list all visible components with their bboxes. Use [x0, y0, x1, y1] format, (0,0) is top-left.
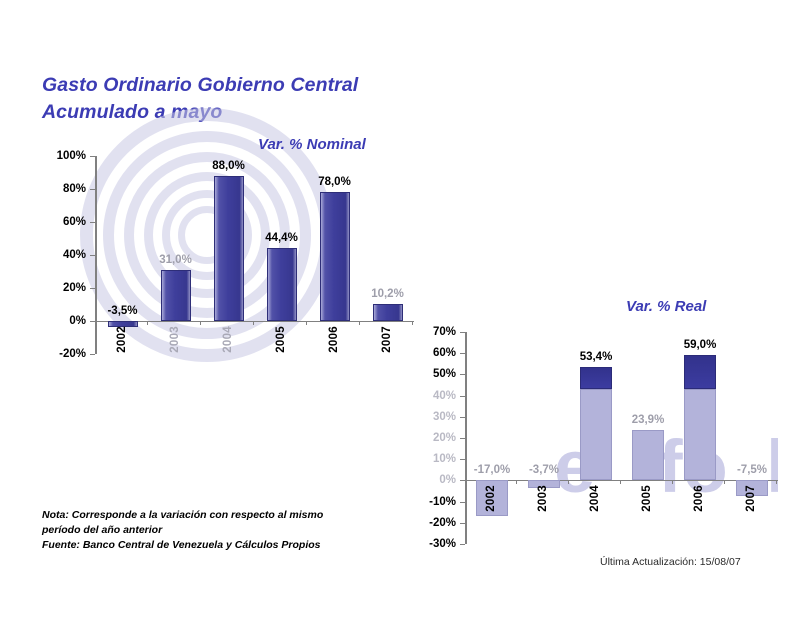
bar-value-2003: -3,7%: [529, 464, 559, 476]
bar-2004[interactable]: [214, 176, 244, 321]
y-axis-tick: [90, 354, 95, 355]
bar-2007[interactable]: [373, 304, 403, 321]
x-axis-category-2003: 2003: [537, 485, 549, 512]
bar-2006-lower[interactable]: [684, 389, 716, 480]
y-axis-tick: [90, 321, 95, 322]
chart-var-real: Var. % Real efole 70%60%50%40%30%20%10%0…: [404, 326, 794, 556]
x-axis-category-2002: 2002: [485, 485, 497, 512]
bar-value-2002: -17,0%: [474, 464, 510, 476]
bar-2006[interactable]: [320, 192, 350, 321]
page-title-line2: Acumulado a mayo: [42, 99, 522, 126]
y-axis-line: [465, 332, 467, 544]
bar-value-2007: -7,5%: [737, 464, 767, 476]
bar-2005[interactable]: [267, 248, 297, 321]
x-axis-tick: [568, 480, 569, 484]
y-axis-label: 60%: [404, 347, 456, 359]
y-axis-label: 40%: [404, 390, 456, 402]
y-axis-label: 0%: [404, 474, 456, 486]
y-axis-tick: [90, 222, 95, 223]
bar-value-2004: 88,0%: [212, 160, 245, 172]
x-axis-category-2006: 2006: [693, 485, 705, 512]
y-axis-label: -30%: [404, 538, 456, 550]
y-axis-label: 20%: [36, 282, 86, 294]
y-axis-label: 50%: [404, 368, 456, 380]
footnote-line-1: Nota: Corresponde a la variación con res…: [42, 508, 392, 523]
y-axis-label: -20%: [404, 517, 456, 529]
x-axis-category-2004: 2004: [589, 485, 601, 512]
x-axis-category-2007: 2007: [745, 485, 757, 512]
x-axis-tick: [306, 321, 307, 325]
y-axis-tick: [460, 480, 465, 481]
last-updated-label: Última Actualización: 15/08/07: [600, 556, 741, 568]
x-axis-tick: [253, 321, 254, 325]
x-axis-tick: [724, 480, 725, 484]
y-axis-tick: [90, 255, 95, 256]
x-axis-category-2002: 2002: [116, 326, 128, 353]
x-axis-tick: [516, 480, 517, 484]
chart-real-plot-area: efole: [466, 332, 778, 544]
x-axis-tick: [412, 321, 413, 325]
y-axis-tick: [460, 374, 465, 375]
y-axis-line: [95, 156, 97, 354]
chart-real-title: Var. % Real: [626, 298, 706, 315]
y-axis-tick: [460, 417, 465, 418]
x-axis-tick: [672, 480, 673, 484]
x-axis-category-2004: 2004: [222, 326, 234, 353]
y-axis-label: 10%: [404, 453, 456, 465]
x-axis-tick: [359, 321, 360, 325]
y-axis-label: 80%: [36, 183, 86, 195]
bar-value-2003: 31,0%: [159, 254, 192, 266]
bar-2003[interactable]: [161, 270, 191, 321]
x-axis-tick: [147, 321, 148, 325]
bar-2004[interactable]: [580, 367, 612, 389]
y-axis-tick: [460, 502, 465, 503]
zero-baseline: [466, 480, 778, 481]
y-axis-label: 20%: [404, 432, 456, 444]
y-axis-tick: [460, 544, 465, 545]
bar-value-2006: 59,0%: [684, 339, 717, 351]
y-axis-label: 60%: [36, 216, 86, 228]
y-axis-tick: [460, 459, 465, 460]
y-axis-tick: [90, 288, 95, 289]
chart-nominal-title: Var. % Nominal: [258, 136, 366, 153]
y-axis-label: -10%: [404, 496, 456, 508]
faded-overlay: [466, 389, 778, 544]
y-axis-label: -20%: [36, 348, 86, 360]
chart-nominal-plot-area: [96, 156, 414, 354]
x-axis-category-2005: 2005: [641, 485, 653, 512]
x-axis-category-2006: 2006: [328, 326, 340, 353]
y-axis-tick: [460, 396, 465, 397]
bar-value-2007: 10,2%: [371, 288, 404, 300]
bar-2004-lower[interactable]: [580, 389, 612, 480]
bar-2005[interactable]: [632, 430, 664, 481]
y-axis-label: 70%: [404, 326, 456, 338]
y-axis-tick: [460, 332, 465, 333]
bar-value-2006: 78,0%: [318, 176, 351, 188]
bar-value-2004: 53,4%: [580, 351, 613, 363]
y-axis-tick: [460, 523, 465, 524]
y-axis-label: 0%: [36, 315, 86, 327]
x-axis-tick: [200, 321, 201, 325]
y-axis-tick: [90, 156, 95, 157]
bar-2006[interactable]: [684, 355, 716, 389]
y-axis-tick: [460, 353, 465, 354]
letters-watermark-icon: efole: [466, 332, 778, 544]
y-axis-label: 100%: [36, 150, 86, 162]
bar-value-2002: -3,5%: [107, 305, 137, 317]
y-axis-tick: [90, 189, 95, 190]
y-axis-label: 40%: [36, 249, 86, 261]
footnote-note: Nota: Corresponde a la variación con res…: [42, 508, 392, 554]
x-axis-category-2007: 2007: [381, 326, 393, 353]
y-axis-label: 30%: [404, 411, 456, 423]
x-axis-tick: [776, 480, 777, 484]
footnote-line-3: Fuente: Banco Central de Venezuela y Cál…: [42, 538, 392, 553]
chart-var-nominal: Var. % Nominal 100%80%60%40%20%0%-20%-3,…: [36, 148, 426, 380]
x-axis-tick: [620, 480, 621, 484]
bar-value-2005: 23,9%: [632, 414, 665, 426]
y-axis-tick: [460, 438, 465, 439]
slide-canvas: Gasto Ordinario Gobierno Central Acumula…: [0, 0, 800, 618]
bar-value-2005: 44,4%: [265, 232, 298, 244]
zero-baseline: [96, 321, 414, 322]
page-title: Gasto Ordinario Gobierno Central Acumula…: [42, 72, 522, 126]
x-axis-category-2003: 2003: [169, 326, 181, 353]
page-title-line1: Gasto Ordinario Gobierno Central: [42, 74, 358, 96]
x-axis-category-2005: 2005: [275, 326, 287, 353]
footnote-line-2: período del año anterior: [42, 523, 392, 538]
